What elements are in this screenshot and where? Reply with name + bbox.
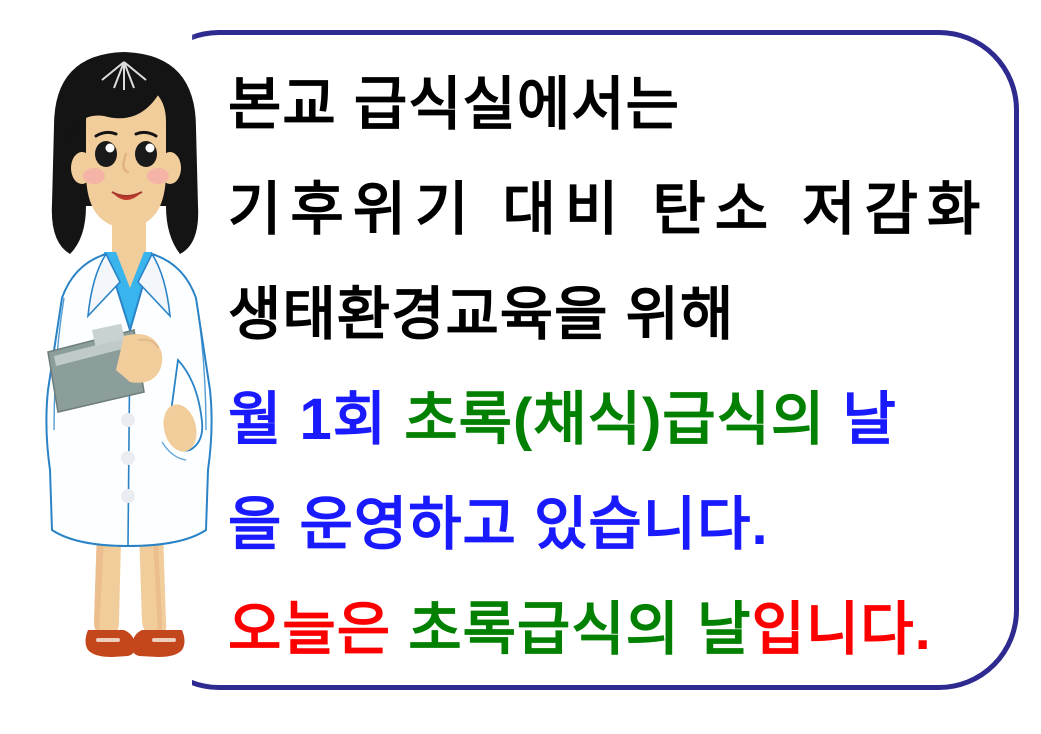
line-2-text: 기후위기 대비 탄소 저감화 (228, 177, 989, 242)
poster-canvas: 본교 급식실에서는 기후위기 대비 탄소 저감화 생태환경교육을 위해 월 1회… (0, 0, 1041, 734)
message-line-5: 을 운영하고 있습니다. (228, 472, 1028, 577)
notice-message: 본교 급식실에서는 기후위기 대비 탄소 저감화 생태환경교육을 위해 월 1회… (228, 52, 1028, 682)
line-3-text: 생태환경교육을 위해 (228, 282, 734, 347)
message-line-6: 오늘은 초록급식의 날입니다. (228, 577, 1028, 682)
message-line-2: 기후위기 대비 탄소 저감화 (228, 157, 1028, 262)
line-6-text-green-highlight: 초록급식의 날 (408, 597, 751, 662)
line-6-text-red-prefix: 오늘은 (228, 597, 408, 662)
message-line-3: 생태환경교육을 위해 (228, 262, 1028, 367)
line-1-text: 본교 급식실에서는 (228, 72, 680, 137)
message-line-1: 본교 급식실에서는 (228, 52, 1028, 157)
message-line-4: 월 1회 초록(채식)급식의 날 (228, 367, 1028, 472)
line-4-text-blue-prefix: 월 1회 (228, 387, 404, 452)
line-4-text-green-highlight: 초록(채식)급식의 (404, 387, 825, 452)
line-6-text-red-suffix: 입니다. (751, 597, 931, 662)
line-5-text: 을 운영하고 있습니다. (228, 492, 769, 557)
nutritionist-character-illustration (20, 30, 235, 680)
line-4-text-blue-suffix: 날 (825, 387, 896, 452)
